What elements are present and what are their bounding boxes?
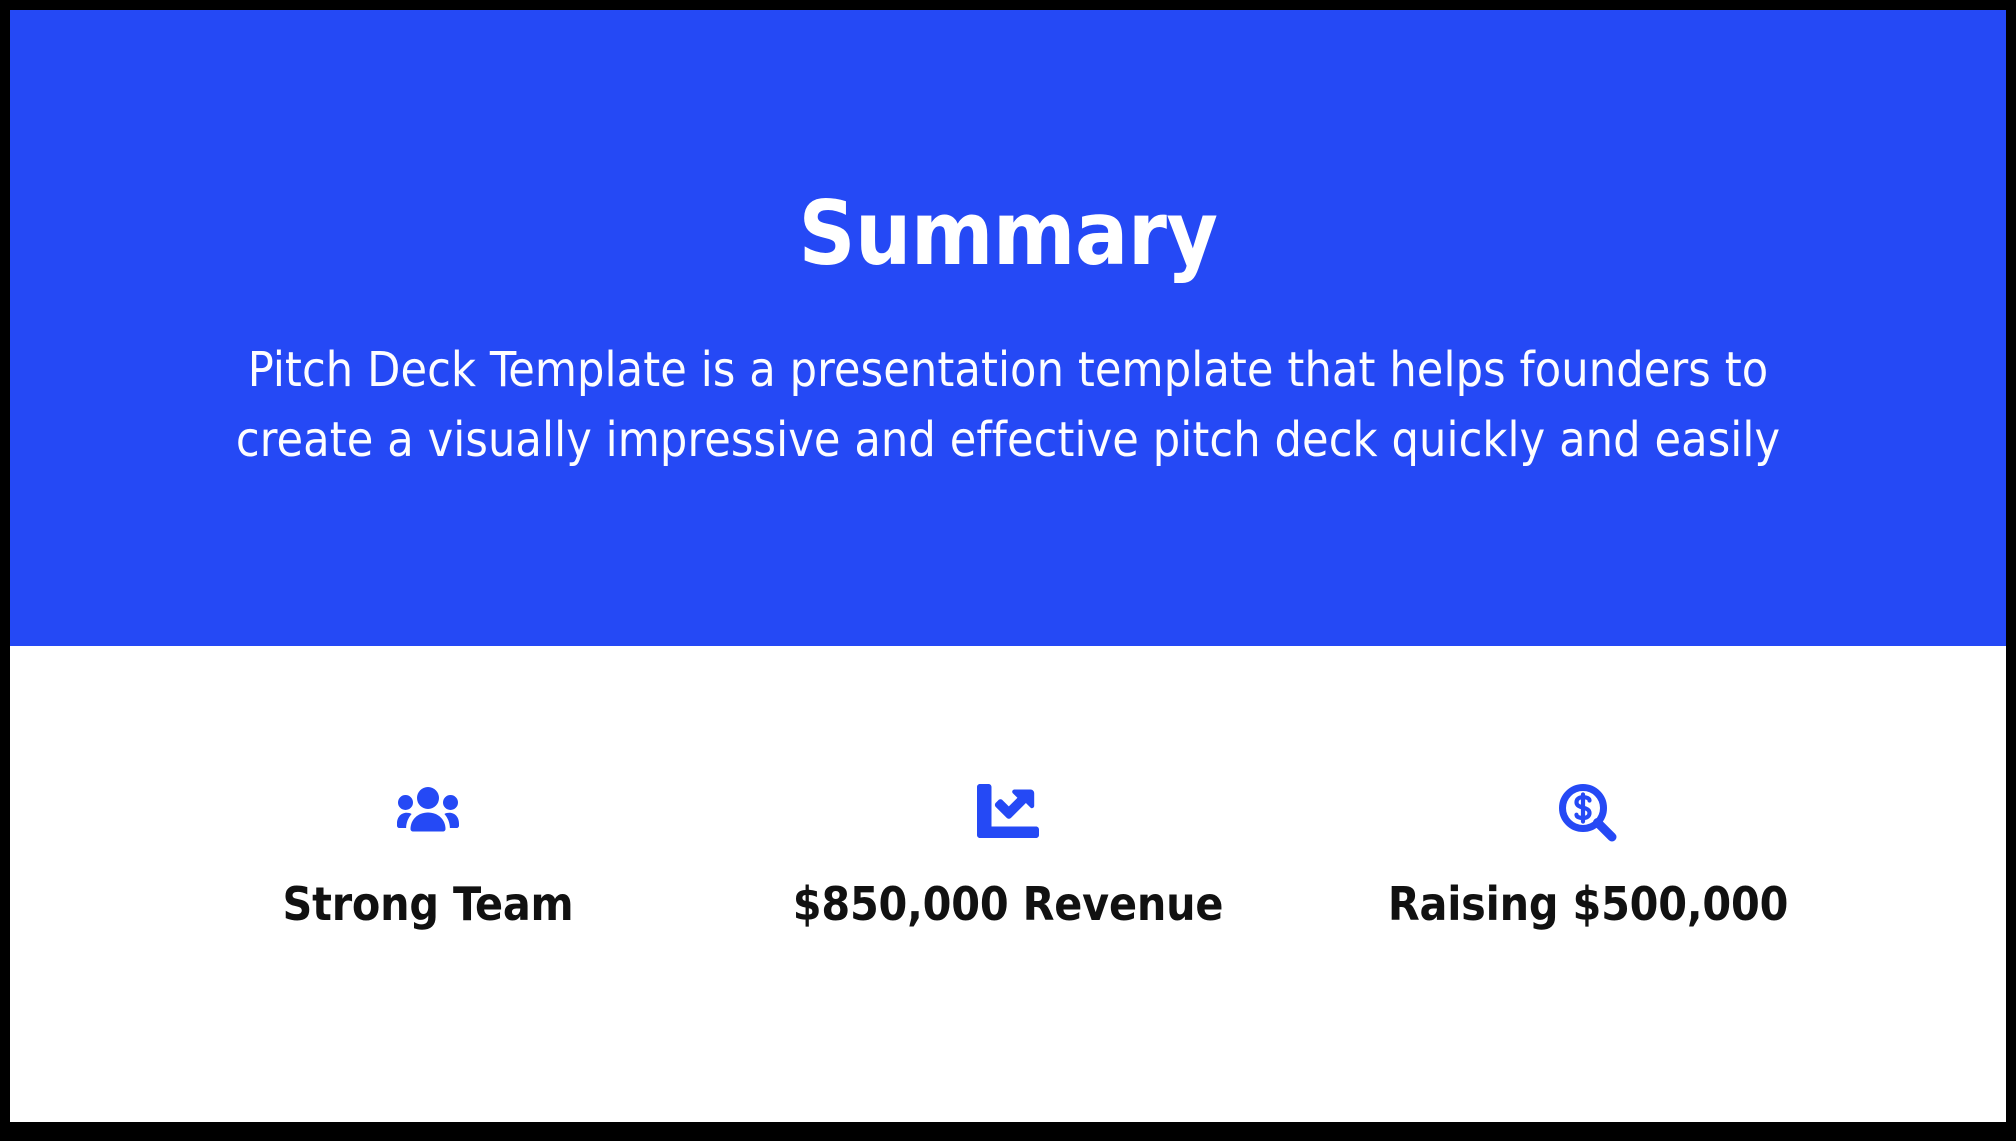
- slide-subtitle-line-1: Pitch Deck Template is a presentation te…: [190, 335, 1826, 405]
- highlight-label: Strong Team: [138, 880, 718, 928]
- highlight-label: Raising $500,000: [1298, 880, 1878, 928]
- page-title: Summary: [10, 190, 2006, 278]
- people-group-icon: [138, 784, 718, 846]
- slide-frame: Summary Pitch Deck Template is a present…: [0, 0, 2016, 1141]
- presentation-slide: Summary Pitch Deck Template is a present…: [10, 10, 2006, 1122]
- highlight-item-revenue: $850,000 Revenue: [718, 646, 1298, 928]
- slide-subtitle: Pitch Deck Template is a presentation te…: [190, 335, 1826, 475]
- magnifier-dollar-icon: [1298, 784, 1878, 846]
- hero-band: [10, 10, 2006, 646]
- chart-line-up-icon: [718, 784, 1298, 846]
- highlight-label: $850,000 Revenue: [718, 880, 1298, 928]
- highlights-row: Strong Team $850,000 Revenue: [10, 646, 2006, 1122]
- slide-subtitle-line-2: create a visually impressive and effecti…: [190, 405, 1826, 475]
- highlight-item-raising: Raising $500,000: [1298, 646, 1878, 928]
- highlight-item-strong-team: Strong Team: [138, 646, 718, 928]
